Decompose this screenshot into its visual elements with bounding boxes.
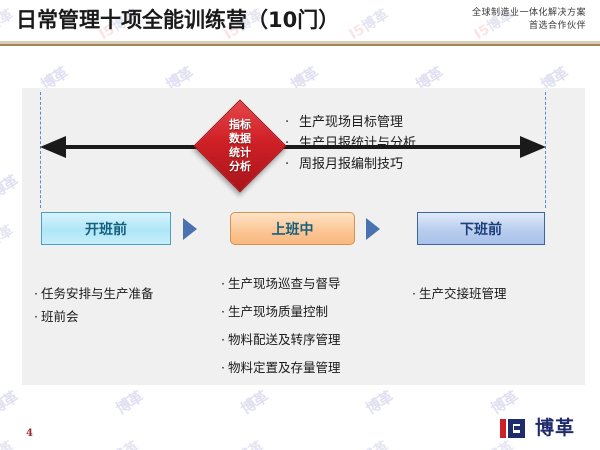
tagline-line-1: 全球制造业一体化解决方案 xyxy=(472,7,586,20)
list-item: · 生产日报统计与分析 xyxy=(285,133,416,154)
watermark-text: 博革 xyxy=(362,386,397,419)
arrow-right-icon-1 xyxy=(183,218,197,240)
stage-box-after-shift[interactable]: 下班前 xyxy=(417,212,545,245)
watermark-logo: I5博革 xyxy=(0,220,17,260)
diamond-line-3: 统计 xyxy=(229,146,251,160)
arrow-right-icon-2 xyxy=(366,218,380,240)
list-item-label: 周报月报编制技巧 xyxy=(299,154,403,175)
list-item-label: 物料配送及转序管理 xyxy=(228,326,341,354)
watermark-logo: I5博革 xyxy=(220,436,267,450)
stage-box-label: 开班前 xyxy=(85,219,127,239)
bullet-marker: · xyxy=(34,282,41,305)
list-item: · 周报月报编制技巧 xyxy=(285,154,416,175)
watermark-logo: I5博革 xyxy=(345,436,392,450)
top-bullet-list: · 生产现场目标管理 · 生产日报统计与分析 · 周报月报编制技巧 xyxy=(285,112,416,175)
watermark-text: 博革 xyxy=(237,386,272,419)
stage-box-before-shift[interactable]: 开班前 xyxy=(41,212,171,245)
list-item-label: 物料定置及存量管理 xyxy=(228,354,341,382)
list-item: · 生产现场巡查与督导 xyxy=(221,270,411,298)
bullet-marker: · xyxy=(221,270,228,298)
kpi-diamond: 指标 数据 统计 分析 xyxy=(193,99,287,193)
detail-column-after-shift: · 生产交接班管理 xyxy=(412,282,577,305)
bullet-marker: · xyxy=(221,298,228,326)
watermark-text: 博革 xyxy=(0,170,21,203)
brand-logo-text: 博革 xyxy=(535,418,575,438)
list-item-label: 生产交接班管理 xyxy=(419,282,507,305)
list-item: · 任务安排与生产准备 xyxy=(34,282,214,305)
bullet-marker: · xyxy=(285,154,299,175)
tagline-line-2: 首选合作伙伴 xyxy=(472,20,586,33)
bullet-marker: · xyxy=(285,133,299,154)
list-item: · 物料配送及转序管理 xyxy=(221,326,411,354)
list-item-label: 生产现场质量控制 xyxy=(228,298,328,326)
slide-header: 日常管理十项全能训练营（10门） 全球制造业一体化解决方案 首选合作伙伴 xyxy=(0,0,600,46)
stage-box-label: 下班前 xyxy=(460,219,502,239)
bullet-marker: · xyxy=(221,354,228,382)
bullet-marker: · xyxy=(221,326,228,354)
list-item-label: 生产日报统计与分析 xyxy=(299,133,416,154)
list-item: · 生产现场质量控制 xyxy=(221,298,411,326)
watermark-text: 博革 xyxy=(112,386,147,419)
list-item: · 班前会 xyxy=(34,305,214,328)
list-item: · 生产现场目标管理 xyxy=(285,112,416,133)
detail-column-during-shift: · 生产现场巡查与督导 · 生产现场质量控制 · 物料配送及转序管理 · 物料定… xyxy=(221,270,411,382)
diamond-label: 指标 数据 统计 分析 xyxy=(193,99,287,193)
detail-column-before-shift: · 任务安排与生产准备 · 班前会 xyxy=(34,282,214,328)
list-item: · 生产交接班管理 xyxy=(412,282,577,305)
page-title: 日常管理十项全能训练营（10门） xyxy=(16,4,339,34)
watermark-logo: I5博革 xyxy=(95,436,142,450)
diamond-line-1: 指标 xyxy=(229,118,251,132)
watermark-text: 博革 xyxy=(487,386,522,419)
boge-logo-icon xyxy=(500,417,530,440)
diamond-line-2: 数据 xyxy=(229,132,251,146)
watermark-text: 博革 xyxy=(0,386,21,419)
list-item-label: 任务安排与生产准备 xyxy=(41,282,154,305)
list-item-label: 生产现场巡查与督导 xyxy=(228,270,341,298)
list-item-label: 班前会 xyxy=(41,305,79,328)
brand-logo: 博革 xyxy=(500,415,592,441)
list-item: · 物料定置及存量管理 xyxy=(221,354,411,382)
page-number: 4 xyxy=(26,428,33,439)
stage-box-label: 上班中 xyxy=(272,219,314,239)
diamond-line-4: 分析 xyxy=(229,160,251,174)
watermark-logo: I5博革 xyxy=(0,436,17,450)
bullet-marker: · xyxy=(412,282,419,305)
list-item-label: 生产现场目标管理 xyxy=(299,112,403,133)
header-divider-dark xyxy=(0,44,600,46)
corporate-tagline: 全球制造业一体化解决方案 首选合作伙伴 xyxy=(472,7,586,33)
stage-box-during-shift[interactable]: 上班中 xyxy=(230,212,355,245)
bullet-marker: · xyxy=(285,112,299,133)
bullet-marker: · xyxy=(34,305,41,328)
